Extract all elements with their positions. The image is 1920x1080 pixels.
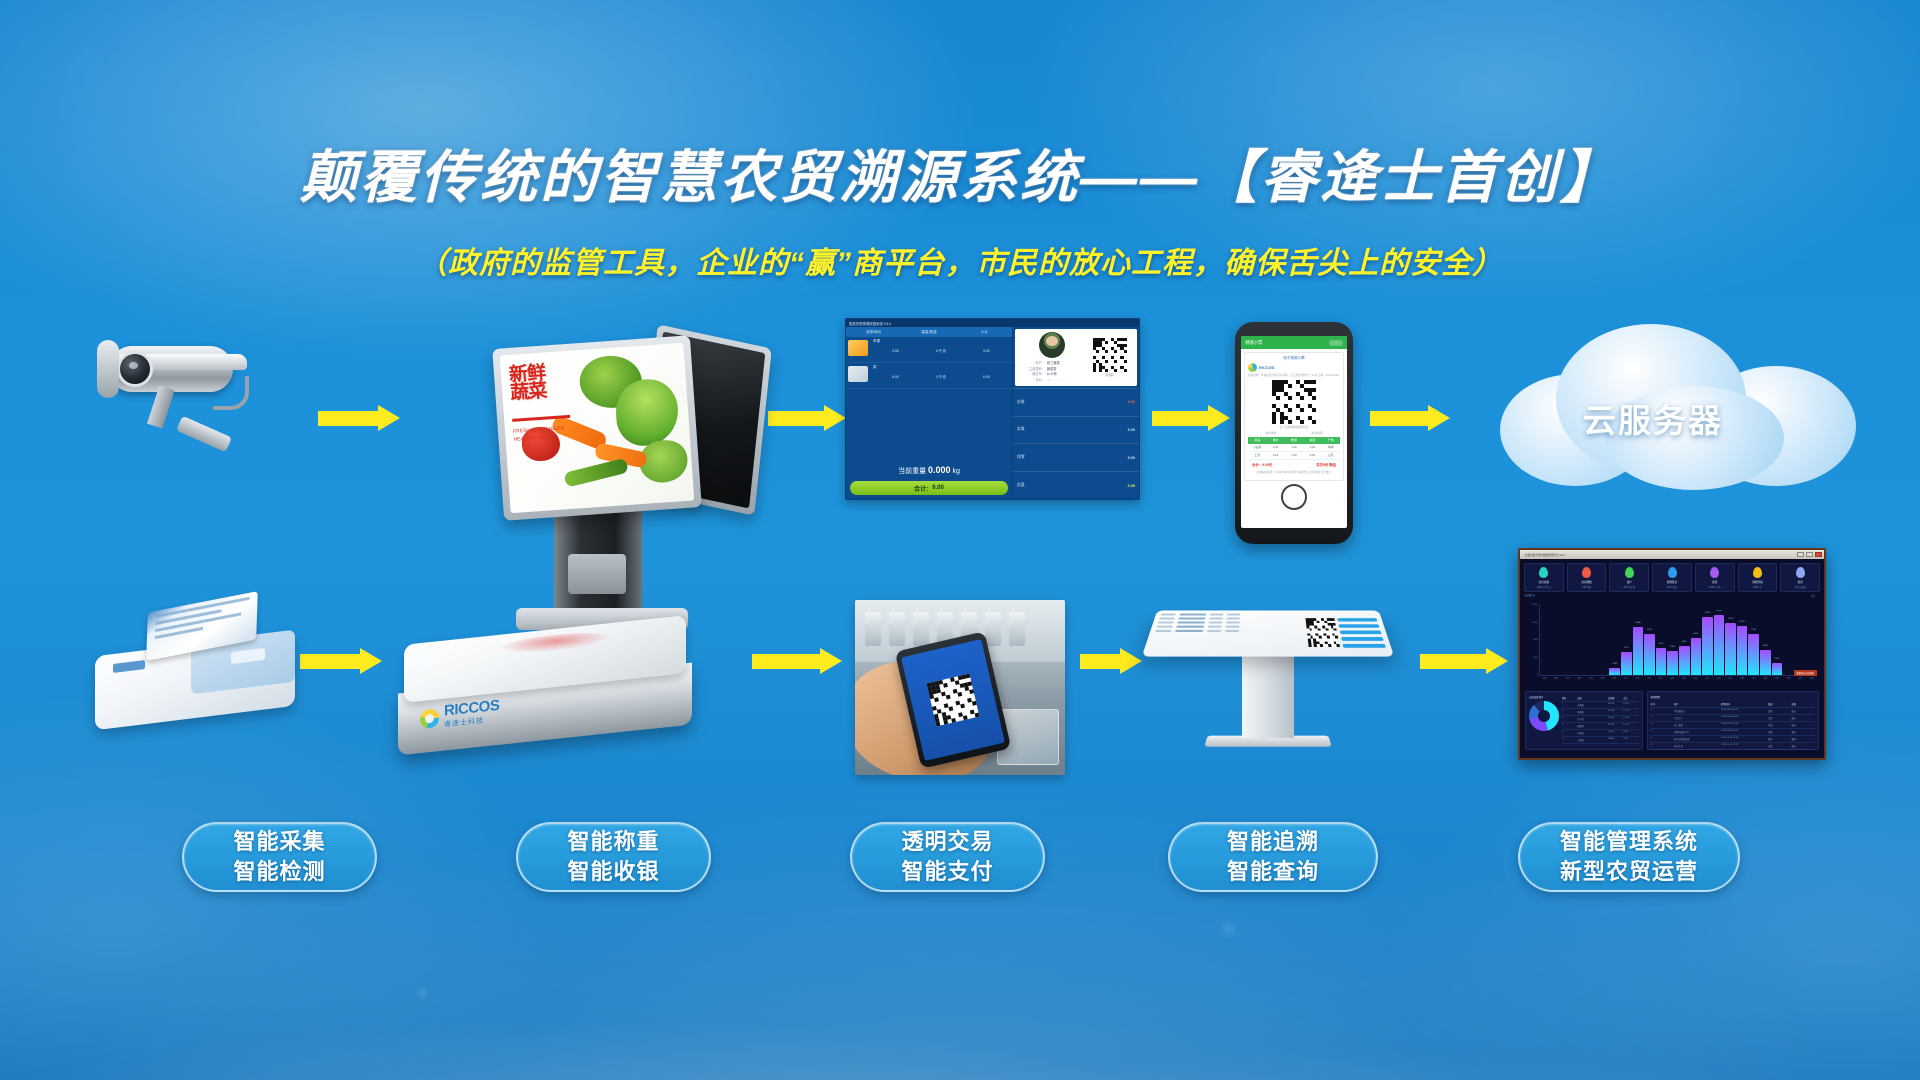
cell: 15480 — [1608, 737, 1623, 743]
chart-xtick: 05时 — [1539, 677, 1550, 688]
table-header-row: 序号商户检测时间结果处理 — [1651, 701, 1815, 708]
chart-ytick: 16000 — [1532, 604, 1538, 606]
caption-pill-management[interactable]: 智能管理系统 新型农贸运营 — [1518, 822, 1740, 892]
r0c1: 3.00 — [1266, 444, 1284, 451]
kpi-card-3[interactable]: 检测批次1427 批次 — [1652, 563, 1692, 592]
qr-caption: 溯源码 — [1105, 373, 1113, 377]
r1c1: 6.00 — [1266, 452, 1284, 459]
cell: 通过 — [1792, 715, 1815, 721]
vendor-f0-value: 张三蔬菜 — [1047, 360, 1060, 365]
camera-body — [109, 346, 233, 392]
phone-receipt-card: 电子溯源小票 RICCOS 交易市场：幸福农贸市场 商户名称：张三蔬菜 摊位号：… — [1244, 352, 1344, 481]
posapp-summary-row: 实收 9.00 — [1013, 416, 1139, 444]
cell: 3 — [1562, 716, 1577, 722]
posapp-row1-qty: 1/千克 — [918, 375, 963, 380]
cell: 跟踪 — [1792, 736, 1815, 742]
chart-bar — [1737, 626, 1748, 675]
cell: 刘家肉铺水产行 — [1674, 729, 1721, 735]
kiosk-screen[interactable] — [1142, 610, 1395, 656]
cell: 6 — [1562, 737, 1577, 743]
chart-xtick: 21时 — [1725, 677, 1736, 688]
kpi-value: 6891 次 — [1740, 585, 1776, 589]
food-safety-detector-image — [95, 600, 315, 740]
col-0: 排名 — [1562, 695, 1577, 701]
rh0: 商品 — [1248, 437, 1266, 444]
cloud-server-graphic: 云服务器 — [1500, 320, 1890, 495]
kpi-label: 溯源查询 — [1740, 580, 1776, 584]
chart-xtick: 12时 — [1620, 677, 1631, 688]
caption-pill-weighing[interactable]: 智能称重 智能收银 — [516, 822, 711, 892]
chart-ytick: 12000 — [1532, 622, 1538, 624]
chart-bar — [1725, 623, 1736, 675]
cell: 10.7% — [1623, 723, 1638, 729]
weight-value: 0.000 — [928, 465, 951, 475]
chart-ytick: 8000 — [1533, 639, 1538, 641]
caption-2-line-2: 智能收银 — [567, 857, 659, 887]
chart-ytick: 4000 — [1533, 657, 1538, 659]
cell: 叶菜类 — [1577, 702, 1608, 708]
chart-xtick: 01时 — [1772, 677, 1783, 688]
cell: 2019-05-20 10:02 — [1721, 722, 1768, 728]
chart-xtick: 09时 — [1586, 677, 1597, 688]
cell: 2019-05-20 10:31 — [1721, 729, 1768, 735]
col-1: 商户 — [1674, 701, 1721, 707]
table-row[interactable]: 2肉禽类3120815.7% — [1562, 709, 1639, 716]
arrow-phone-to-cloud — [1370, 405, 1450, 431]
cell: 27640 — [1608, 716, 1623, 722]
posapp-cart-header: 名称/单价 重量/数量 小计 — [846, 327, 1012, 337]
camera-lens — [117, 351, 153, 387]
posapp-weight-readout: 当前重量 0.000 kg — [846, 462, 1012, 479]
col-1: 品类 — [1577, 695, 1608, 701]
ad-headline: 新鲜蔬菜 — [509, 365, 547, 404]
col-2: 检测时间 — [1721, 701, 1768, 707]
vendor-f3-label: 评价： — [1018, 377, 1045, 382]
kpi-dot-icon — [1582, 567, 1591, 578]
caption-pill-collection[interactable]: 智能采集 智能检测 — [182, 822, 377, 892]
col-0: 序号 — [1651, 701, 1674, 707]
brand-mark-icon — [420, 708, 439, 729]
chart-bar — [1772, 663, 1783, 675]
chart-bar — [1748, 634, 1759, 675]
chart-xtick: 00时 — [1760, 677, 1771, 688]
cell: 13.9% — [1623, 716, 1638, 722]
page-subtitle: （政府的监管工具，企业的“赢”商平台，市民的放心工程，确保舌尖上的安全） — [0, 238, 1920, 282]
cell: 根茎类 — [1577, 723, 1608, 729]
sum0-value: 9.00 — [1128, 400, 1135, 404]
caption-pill-traceability[interactable]: 智能追溯 智能查询 — [1168, 822, 1378, 892]
alert-table: 序号商户检测时间结果处理1李记蔬菜行2019-05-20 09:21合格通过2王… — [1651, 701, 1815, 750]
cell: 水果类 — [1577, 737, 1608, 743]
table-row[interactable]: 5赵记豆制品批发2019-05-20 11:08复检跟踪 — [1651, 736, 1815, 743]
cell: 合格 — [1768, 708, 1791, 714]
pos-software-screenshot: 智慧农贸溯源收银系统 V3.0 名称/单价 重量/数量 小计 苹果 3.00 1… — [845, 318, 1140, 500]
chart-xtick: 04时 — [1806, 677, 1817, 688]
receipt-qr-icon — [1272, 380, 1316, 424]
chart-bar — [1633, 627, 1644, 675]
maximize-icon[interactable] — [1806, 552, 1813, 557]
chart-xtick: 03时 — [1795, 677, 1806, 688]
chart-xtick: 10时 — [1597, 677, 1608, 688]
chart-xtick: 13时 — [1632, 677, 1643, 688]
kpi-value: 11864 人次 — [1697, 585, 1733, 589]
r0c3: 3.00 — [1303, 444, 1321, 451]
receipt-total-row: 合计：9.00元 实付9元 微信 — [1248, 460, 1340, 469]
home-button-icon[interactable] — [1281, 484, 1307, 510]
cell: 合格 — [1768, 715, 1791, 721]
right-panel-title: 检测预警 — [1651, 695, 1815, 699]
kiosk-list — [1148, 614, 1305, 653]
kpi-value: 198712.75 元 — [1526, 585, 1562, 589]
posapp-summary-row: 优惠 0.00 — [1013, 471, 1139, 499]
caption-1-line-1: 智能采集 — [233, 827, 325, 857]
touchscreen-kiosk-image — [1150, 600, 1390, 775]
sum0-label: 应收 — [1017, 400, 1025, 405]
posapp-summary-row: 找零 9.00 — [1013, 443, 1139, 471]
chart-xtick: 16时 — [1667, 677, 1678, 688]
chart-xtick: 18时 — [1690, 677, 1701, 688]
posapp-col-1: 重量/数量 — [901, 330, 956, 335]
posapp-col-0: 名称/单价 — [846, 330, 901, 335]
cell: 38125 — [1608, 702, 1623, 708]
cell: 2019-05-20 09:21 — [1721, 708, 1768, 714]
table-row[interactable]: 4刘家肉铺水产行2019-05-20 10:31合格通过 — [1651, 729, 1815, 736]
receipt-logo-text: RICCOS — [1259, 365, 1275, 370]
camera-mount — [176, 416, 232, 453]
product-thumb — [848, 340, 868, 356]
kpi-card-0[interactable]: 交易总额198712.75 元 — [1524, 563, 1564, 592]
minimize-icon[interactable] — [1797, 552, 1804, 557]
cell: 5 — [1562, 730, 1577, 736]
table-row[interactable]: 6水果类154807.8% — [1562, 737, 1639, 744]
chart-xtick: 22时 — [1737, 677, 1748, 688]
dashboard-titlebar: 智慧农贸市场大数据管理平台 V3.0 — [1520, 550, 1824, 559]
scan-to-pay-photo — [855, 600, 1065, 775]
kiosk-stand — [1242, 656, 1294, 738]
table-row[interactable]: 5豆制品178028.9% — [1562, 730, 1639, 737]
receipt-logo: RICCOS — [1248, 363, 1340, 372]
table-row[interactable]: 1李记蔬菜行2019-05-20 09:21合格通过 — [1651, 708, 1815, 715]
rh1: 单价 — [1266, 437, 1284, 444]
posapp-row1-subtotal: 6.00 — [964, 375, 1009, 380]
col-3: 占比 — [1623, 695, 1638, 701]
posapp-row0-qty: 1/千克 — [918, 349, 963, 354]
cell: 水产类 — [1577, 716, 1608, 722]
cell: 2 — [1562, 709, 1577, 715]
smart-scale-image: RICCOS 睿逄士科技 — [390, 630, 720, 780]
r1c3: 6.00 — [1303, 452, 1321, 459]
chart-yticks: 1600012000800040000 — [1525, 604, 1538, 676]
category-table: 排名品类交易额占比1叶菜类3812519.2%2肉禽类3120815.7%3水产… — [1562, 695, 1639, 746]
kpi-card-6[interactable]: 投诉3 件已办结 — [1780, 563, 1820, 592]
receipt-meta: 交易市场：幸福农贸市场 商户名称：张三蔬菜 摊位号：A-12 日期：2019-0… — [1248, 374, 1340, 378]
chart-bar — [1656, 648, 1667, 675]
table-row[interactable]: 3水产类2764013.9% — [1562, 716, 1639, 723]
cell: 李记蔬菜行 — [1674, 708, 1721, 714]
cell: 通过 — [1792, 729, 1815, 735]
chart-xtick: 19时 — [1702, 677, 1713, 688]
caption-2-line-1: 智能称重 — [567, 827, 659, 857]
cell: 21355 — [1608, 723, 1623, 729]
col-2: 交易额 — [1608, 695, 1623, 701]
chart-xtick: 08时 — [1574, 677, 1585, 688]
arrow-kiosk-to-dashboard — [1420, 648, 1508, 674]
cell: 17802 — [1608, 730, 1623, 736]
caption-4-line-2: 智能查询 — [1227, 857, 1319, 887]
kpi-value: 1427 批次 — [1654, 585, 1690, 589]
table-row[interactable]: 6孙记干货2019-05-20 11:27合格通过 — [1651, 743, 1815, 750]
left-panel-title: 交易品类排行 — [1529, 695, 1562, 699]
vendor-f2-value: A-12号 — [1047, 371, 1057, 376]
receipt-title: 电子溯源小票 — [1248, 356, 1340, 361]
r1c4: 山东 — [1322, 452, 1340, 459]
cell: 19.2% — [1623, 702, 1638, 708]
cell: 2019-05-20 09:45 — [1721, 715, 1768, 721]
vendor-rating-stars: ★☆☆☆☆ — [1047, 377, 1066, 382]
weight-unit: kg — [953, 468, 960, 475]
chart-update-tag: 数据每日自动更新 — [1794, 670, 1818, 676]
sum3-value: 0.00 — [1128, 484, 1135, 488]
cell: 合格 — [1768, 729, 1791, 735]
kpi-dot-icon — [1625, 567, 1634, 578]
posapp-cart-row[interactable]: 苹果 3.00 1/千克 3.00 — [846, 337, 1012, 363]
chart-xtick: 15时 — [1655, 677, 1666, 688]
cell: 赵记豆制品批发 — [1674, 736, 1721, 742]
cell: 2019-05-20 11:08 — [1721, 736, 1768, 742]
cell: 2 — [1651, 715, 1674, 721]
dashboard-alert-panel: 检测预警 序号商户检测时间结果处理1李记蔬菜行2019-05-20 09:21合… — [1647, 691, 1819, 750]
dashboard-window-title: 智慧农贸市场大数据管理平台 V3.0 — [1522, 553, 1565, 557]
cloud-label: 云服务器 — [1500, 394, 1806, 442]
posapp-col-2: 小计 — [957, 330, 1012, 335]
arrow-camera-to-pos — [318, 405, 400, 431]
cell: 5 — [1651, 736, 1674, 742]
kpi-dot-icon — [1539, 567, 1548, 578]
dashboard-category-panel: 交易品类排行 排名品类交易额占比1叶菜类3812519.2%2肉禽类312081… — [1525, 691, 1643, 750]
kpi-dot-icon — [1753, 567, 1762, 578]
surveillance-camera-image — [95, 330, 285, 480]
arrow-market-to-kiosk — [1080, 648, 1142, 674]
rh3: 金额 — [1303, 437, 1321, 444]
cell: 6 — [1651, 743, 1674, 749]
chart-xticks: 05时06时07时08时09时10时11时12时13时14时15时16时17时1… — [1539, 677, 1817, 688]
cell: 3 — [1651, 722, 1674, 728]
sum3-label: 优惠 — [1017, 483, 1025, 488]
pos-printer — [568, 554, 626, 594]
product-thumb — [848, 366, 868, 382]
caption-pill-payment[interactable]: 透明交易 智能支付 — [850, 822, 1045, 892]
chart-bar — [1714, 615, 1725, 675]
smartphone-receipt-image: 溯源小票 ··· 电子溯源小票 RICCOS 交易市场：幸福农贸市场 商户名称：… — [1235, 322, 1353, 544]
receipt-total-left: 合计：9.00元 — [1252, 462, 1272, 467]
posapp-row1-price: 6.00 — [873, 375, 918, 380]
chart-bar — [1702, 617, 1713, 675]
chart-bar — [1609, 668, 1620, 675]
cell: 肉禽类 — [1577, 709, 1608, 715]
chart-xtick: 07时 — [1562, 677, 1573, 688]
chart-xtick: 02时 — [1783, 677, 1794, 688]
receipt-qr-caption: 扫一扫查询商品溯源信息 — [1248, 425, 1340, 429]
chart-ylabel: 交易额(元) — [1524, 593, 1535, 597]
rh2: 数量 — [1285, 437, 1303, 444]
chart-plot-area — [1539, 604, 1817, 676]
phone-appbar-title: 溯源小票 — [1245, 340, 1263, 346]
posapp-titlebar: 智慧农贸溯源收银系统 V3.0 — [846, 319, 1139, 327]
kpi-label: 客流 — [1697, 580, 1733, 584]
chart-xtick: 06时 — [1551, 677, 1562, 688]
vendor-f0-label: 商户： — [1018, 360, 1045, 365]
table-header-row: 排名品类交易额占比 — [1562, 695, 1639, 702]
cell: 4 — [1562, 723, 1577, 729]
table-row[interactable]: 1叶菜类3812519.2% — [1562, 702, 1639, 709]
chart-ytick: 0 — [1537, 674, 1538, 676]
kpi-label: 投诉 — [1782, 580, 1818, 584]
dashboard-kpi-row: 交易总额198712.75 元交易笔数3215 笔商户186 户在营检测批次14… — [1520, 559, 1824, 594]
caption-5-line-2: 新型农贸运营 — [1560, 857, 1698, 887]
kpi-dot-icon — [1710, 567, 1719, 578]
total-label: 合计： — [914, 484, 932, 493]
kiosk-qr-icon — [1305, 618, 1339, 647]
pos-advertisement: 新鲜蔬菜 FRESH VEGETABLESHEALTHY LIFE — [500, 343, 695, 513]
cell: 4 — [1651, 729, 1674, 735]
page-title: 颠覆传统的智慧农贸溯源系统——【睿逄士首创】 — [0, 132, 1920, 214]
chart-bar — [1644, 634, 1655, 675]
r0c2: 1.00 — [1285, 444, 1303, 451]
sum2-label: 找零 — [1017, 455, 1025, 460]
cell: 通过 — [1792, 743, 1815, 749]
kpi-dot-icon — [1796, 567, 1805, 578]
traceability-qr-icon — [1093, 338, 1127, 372]
more-icon[interactable]: ··· — [1329, 340, 1343, 346]
cell: 合格 — [1768, 722, 1791, 728]
r1c2: 1.00 — [1285, 452, 1303, 459]
col-3: 结果 — [1768, 701, 1791, 707]
kpi-card-5[interactable]: 溯源查询6891 次 — [1738, 563, 1778, 592]
posapp-total-button[interactable]: 合计： 9.00 — [850, 481, 1008, 495]
sum1-value: 9.00 — [1128, 428, 1135, 432]
weight-label: 当前重量 — [898, 468, 926, 475]
cell: 15.7% — [1623, 709, 1638, 715]
kpi-card-4[interactable]: 客流11864 人次 — [1695, 563, 1735, 592]
arrow-pos-to-posapp — [768, 405, 846, 431]
caption-4-line-1: 智能追溯 — [1227, 827, 1319, 857]
cell: 通过 — [1792, 722, 1815, 728]
bigdata-dashboard-screenshot: 智慧农贸市场大数据管理平台 V3.0 交易总额198712.75 元交易笔数32… — [1518, 548, 1826, 760]
category-donut-chart — [1529, 701, 1559, 731]
sum2-value: 9.00 — [1128, 456, 1135, 460]
receipt-footer: 监督投诉电话：12315 本小票可作为追溯凭证 扫码查询 安全放心 — [1248, 469, 1340, 477]
chart-legend: 今日 — [1811, 594, 1815, 598]
vendor-f2-label: 摊位号： — [1018, 371, 1045, 376]
caption-3-line-1: 透明交易 — [901, 827, 993, 857]
arrow-posapp-to-phone — [1152, 405, 1230, 431]
vendor-card: 商户： 张三蔬菜 主营类别： 蔬菜类 摊位号： A-12号 评价： ★☆☆☆☆ … — [1015, 329, 1137, 386]
kpi-card-2[interactable]: 商户186 户在营 — [1609, 563, 1649, 592]
r0c4: 本地 — [1322, 444, 1340, 451]
receipt-table-row: 小白菜 3.00 1.00 3.00 本地 — [1248, 444, 1340, 452]
r1c0: 土豆 — [1248, 452, 1266, 459]
table-row[interactable]: 2王氏水产2019-05-20 09:45合格通过 — [1651, 715, 1815, 722]
cell: 1 — [1562, 702, 1577, 708]
kpi-value: 3215 笔 — [1569, 585, 1605, 589]
table-row[interactable]: 4根茎类2135510.7% — [1562, 723, 1639, 730]
cell: 8.9% — [1623, 730, 1638, 736]
kpi-label: 检测批次 — [1654, 580, 1690, 584]
close-icon[interactable] — [1815, 552, 1822, 557]
pos-customer-display: 新鲜蔬菜 FRESH VEGETABLESHEALTHY LIFE — [492, 335, 702, 520]
vendor-avatar — [1039, 332, 1065, 358]
receipt-table-row: 土豆 6.00 1.00 6.00 山东 — [1248, 452, 1340, 460]
posapp-row1-name: 梨 — [873, 365, 1009, 370]
posapp-row0-name: 苹果 — [873, 339, 1009, 344]
vendor-f1-value: 蔬菜类 — [1047, 366, 1057, 371]
total-value: 9.00 — [932, 485, 944, 491]
kpi-label: 商户 — [1611, 580, 1647, 584]
cell: 1 — [1651, 708, 1674, 714]
receipt-sub-right: 交易时间 — [1311, 431, 1322, 435]
posapp-summary-row: 应收 9.00 — [1013, 388, 1139, 416]
chart-xtick: 23时 — [1748, 677, 1759, 688]
kpi-label: 交易笔数 — [1569, 580, 1605, 584]
cell: 合格 — [1768, 743, 1791, 749]
chart-xtick: 11时 — [1609, 677, 1620, 688]
cell: 豆制品 — [1577, 730, 1608, 736]
chart-xtick: 14时 — [1644, 677, 1655, 688]
chart-bar — [1760, 650, 1771, 675]
kiosk-action-bars — [1336, 614, 1387, 653]
phone-appbar: 溯源小票 ··· — [1241, 336, 1347, 349]
receipt-table-header: 商品 单价 数量 金额 产地 — [1248, 437, 1340, 444]
caption-3-line-2: 智能支付 — [901, 857, 993, 887]
receipt-sub-left: 交易单号 — [1265, 431, 1276, 435]
cell: 王氏水产 — [1674, 715, 1721, 721]
table-row[interactable]: 3张三蔬菜2019-05-20 10:02合格通过 — [1651, 722, 1815, 729]
kpi-dot-icon — [1668, 567, 1677, 578]
chart-bar — [1679, 646, 1690, 675]
dashboard-bar-chart: 交易额(元) 今日 1600012000800040000 05时06时07时0… — [1525, 596, 1819, 688]
col-4: 处理 — [1792, 701, 1815, 707]
rh4: 产地 — [1322, 437, 1340, 444]
cell: 复检 — [1768, 736, 1791, 742]
chart-xtick: 20时 — [1713, 677, 1724, 688]
cell: 2019-05-20 11:27 — [1721, 743, 1768, 749]
caption-5-line-1: 智能管理系统 — [1560, 827, 1698, 857]
kpi-value: 186 户在营 — [1611, 585, 1647, 589]
kpi-value: 3 件已办结 — [1782, 585, 1818, 589]
chart-bar — [1691, 638, 1702, 675]
vendor-f1-label: 主营类别： — [1018, 366, 1045, 371]
r0c0: 小白菜 — [1248, 444, 1266, 451]
payment-qr-icon — [927, 674, 980, 727]
chart-xtick: 17时 — [1679, 677, 1690, 688]
receipt-total-right: 实付9元 微信 — [1316, 462, 1336, 467]
posapp-row0-subtotal: 3.00 — [964, 349, 1009, 354]
posapp-cart-row[interactable]: 梨 6.00 1/千克 6.00 — [846, 363, 1012, 389]
phone-screen: 溯源小票 ··· 电子溯源小票 RICCOS 交易市场：幸福农贸市场 商户名称：… — [1241, 336, 1347, 528]
cell: 通过 — [1792, 708, 1815, 714]
sum1-label: 实收 — [1017, 427, 1025, 432]
posapp-cart-pane: 名称/单价 重量/数量 小计 苹果 3.00 1/千克 3.00 梨 — [846, 327, 1013, 499]
scan-screen — [901, 639, 1005, 761]
cell: 孙记干货 — [1674, 743, 1721, 749]
kpi-card-1[interactable]: 交易笔数3215 笔 — [1567, 563, 1607, 592]
cell: 张三蔬菜 — [1674, 722, 1721, 728]
chart-bar — [1621, 652, 1632, 675]
cell: 31208 — [1608, 709, 1623, 715]
caption-1-line-2: 智能检测 — [233, 857, 325, 887]
chart-bar — [1667, 651, 1678, 675]
camera-hood — [97, 340, 119, 398]
